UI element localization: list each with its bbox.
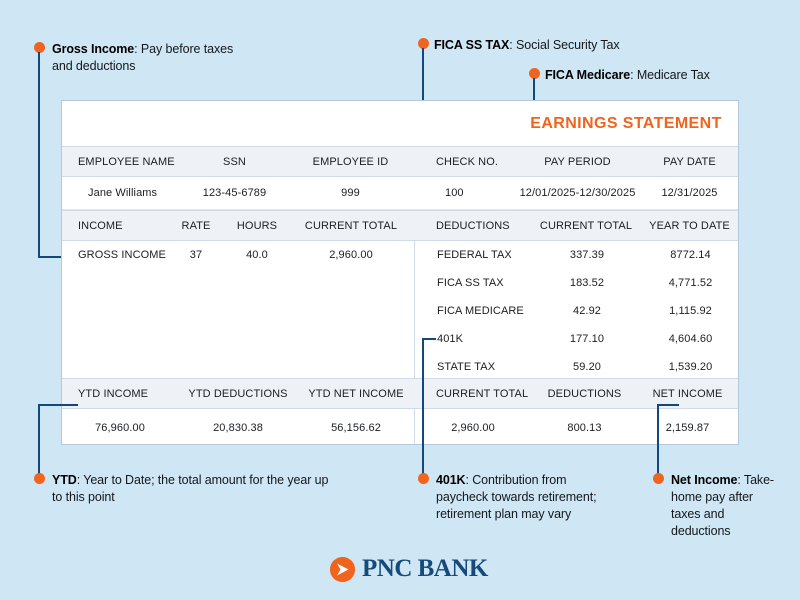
header-ytd-income: YTD INCOME (62, 379, 178, 408)
callout-line-401k-vertical (422, 338, 424, 479)
deduction-label: FEDERAL TAX (415, 241, 532, 269)
summary-value-row: 76,960.00 20,830.38 56,156.62 2,960.00 8… (62, 409, 738, 445)
callout-desc-fica-ss-tax: Social Security Tax (516, 38, 619, 52)
callout-line-net-income-vertical (657, 404, 659, 479)
header-hours: HOURS (226, 211, 288, 240)
summary-column-divider (414, 409, 415, 445)
callout-desc-ytd: Year to Date; the total amount for the y… (52, 473, 328, 504)
deduction-label: STATE TAX (415, 353, 532, 381)
table-row: 401K 177.10 4,604.60 (415, 325, 739, 353)
pnc-arrow-icon (330, 557, 355, 582)
table-row: FEDERAL TAX 337.39 8772.14 (415, 241, 739, 269)
header-pay-period: PAY PERIOD (514, 147, 641, 176)
value-employee-id: 999 (287, 177, 414, 209)
table-row: FICA MEDICARE 42.92 1,115.92 (415, 297, 739, 325)
header-employee-name: EMPLOYEE NAME (62, 147, 182, 176)
header-net-income: NET INCOME (637, 379, 738, 408)
value-pay-date: 12/31/2025 (641, 177, 738, 209)
value-ytd-income: 76,960.00 (62, 409, 178, 445)
table-row: FICA SS TAX 183.52 4,771.52 (415, 269, 739, 297)
page-title: EARNINGS STATEMENT (514, 115, 738, 133)
callout-gross-income: Gross Income: Pay before taxes and deduc… (52, 41, 252, 75)
callout-net-income: Net Income: Take-home pay after taxes an… (671, 472, 781, 540)
callout-dot-ytd (34, 473, 45, 484)
summary-values: 76,960.00 20,830.38 56,156.62 2,960.00 8… (62, 409, 738, 445)
header-check-no: CHECK NO. (414, 147, 514, 176)
deduction-current-total: 337.39 (532, 241, 642, 269)
callout-term-net-income: Net Income (671, 473, 737, 487)
header-year-to-date: YEAR TO DATE (641, 211, 738, 240)
callout-fica-medicare: FICA Medicare: Medicare Tax (545, 67, 785, 84)
income-hours: 40.0 (226, 241, 288, 269)
income-rate: 37 (166, 241, 226, 269)
deduction-year-to-date: 4,604.60 (642, 325, 739, 353)
deduction-year-to-date: 1,539.20 (642, 353, 739, 381)
value-summary-current-total: 2,960.00 (414, 409, 532, 445)
table-row: STATE TAX 59.20 1,539.20 (415, 353, 739, 381)
title-row-spacer-2 (414, 101, 514, 146)
callout-term-gross-income: Gross Income (52, 42, 134, 56)
income-label: GROSS INCOME (62, 241, 166, 269)
statement-title-cell: EARNINGS STATEMENT (514, 101, 738, 146)
header-summary-deductions: DEDUCTIONS (532, 379, 637, 408)
statement-title-row: EARNINGS STATEMENT (62, 101, 738, 146)
callout-term-fica-medicare: FICA Medicare (545, 68, 630, 82)
value-net-income: 2,159.87 (637, 409, 738, 445)
callout-line-net-income-horizontal (657, 404, 679, 406)
value-pay-period: 12/01/2025-12/30/2025 (514, 177, 641, 209)
header-income-current-total: CURRENT TOTAL (288, 211, 414, 240)
title-row-spacer (62, 101, 414, 146)
employee-value-row: Jane Williams 123-45-6789 999 100 12/01/… (62, 177, 738, 210)
callout-desc-fica-medicare: Medicare Tax (637, 68, 710, 82)
value-ssn: 123-45-6789 (182, 177, 287, 209)
callout-dot-net-income (653, 473, 664, 484)
callout-term-401k: 401K (436, 473, 465, 487)
callout-line-gross-income-vertical (38, 52, 40, 257)
callout-line-ytd-horizontal (38, 404, 78, 406)
header-income: INCOME (62, 211, 166, 240)
employee-header-row: EMPLOYEE NAME SSN EMPLOYEE ID CHECK NO. … (62, 146, 738, 177)
statement-body: GROSS INCOME 37 40.0 2,960.00 FEDERAL TA… (62, 241, 738, 378)
header-ssn: SSN (182, 147, 287, 176)
callout-ytd: YTD: Year to Date; the total amount for … (52, 472, 332, 506)
earnings-statement-card: EARNINGS STATEMENT EMPLOYEE NAME SSN EMP… (61, 100, 739, 445)
callout-line-ytd-vertical (38, 404, 40, 479)
callout-dot-401k (418, 473, 429, 484)
value-ytd-deductions: 20,830.38 (178, 409, 298, 445)
header-deductions: DEDUCTIONS (414, 211, 531, 240)
deduction-current-total: 183.52 (532, 269, 642, 297)
value-summary-deductions: 800.13 (532, 409, 637, 445)
deduction-label: FICA MEDICARE (415, 297, 532, 325)
header-pay-date: PAY DATE (641, 147, 738, 176)
pnc-bank-logo: PNC BANK (330, 555, 488, 583)
header-summary-current-total: CURRENT TOTAL (414, 379, 532, 408)
summary-header-row: YTD INCOME YTD DEDUCTIONS YTD NET INCOME… (62, 378, 738, 409)
header-ytd-net-income: YTD NET INCOME (298, 379, 414, 408)
income-rows: GROSS INCOME 37 40.0 2,960.00 (62, 241, 414, 269)
deduction-year-to-date: 8772.14 (642, 241, 739, 269)
income-deductions-header-row: INCOME RATE HOURS CURRENT TOTAL DEDUCTIO… (62, 210, 738, 241)
callout-line-401k-horizontal (422, 338, 436, 340)
callout-sep-fica-medicare: : (630, 68, 637, 82)
deduction-rows: FEDERAL TAX 337.39 8772.14 FICA SS TAX 1… (415, 241, 739, 381)
income-row: GROSS INCOME 37 40.0 2,960.00 (62, 241, 414, 269)
deduction-label: FICA SS TAX (415, 269, 532, 297)
header-rate: RATE (166, 211, 226, 240)
income-current-total: 2,960.00 (288, 241, 414, 269)
deduction-current-total: 42.92 (532, 297, 642, 325)
header-deduction-current-total: CURRENT TOTAL (531, 211, 641, 240)
header-employee-id: EMPLOYEE ID (287, 147, 414, 176)
pnc-bank-wordmark: PNC BANK (362, 555, 488, 583)
callout-term-ytd: YTD (52, 473, 77, 487)
value-check-no: 100 (414, 177, 514, 209)
value-employee-name: Jane Williams (62, 177, 182, 209)
deduction-year-to-date: 4,771.52 (642, 269, 739, 297)
value-ytd-net-income: 56,156.62 (298, 409, 414, 445)
callout-sep-gross-income: : (134, 42, 141, 56)
callout-401k: 401K: Contribution from paycheck towards… (436, 472, 621, 523)
header-ytd-deductions: YTD DEDUCTIONS (178, 379, 298, 408)
deduction-current-total: 59.20 (532, 353, 642, 381)
callout-fica-ss-tax: FICA SS TAX: Social Security Tax (434, 37, 694, 54)
deduction-current-total: 177.10 (532, 325, 642, 353)
callout-term-fica-ss-tax: FICA SS TAX (434, 38, 509, 52)
deduction-year-to-date: 1,115.92 (642, 297, 739, 325)
